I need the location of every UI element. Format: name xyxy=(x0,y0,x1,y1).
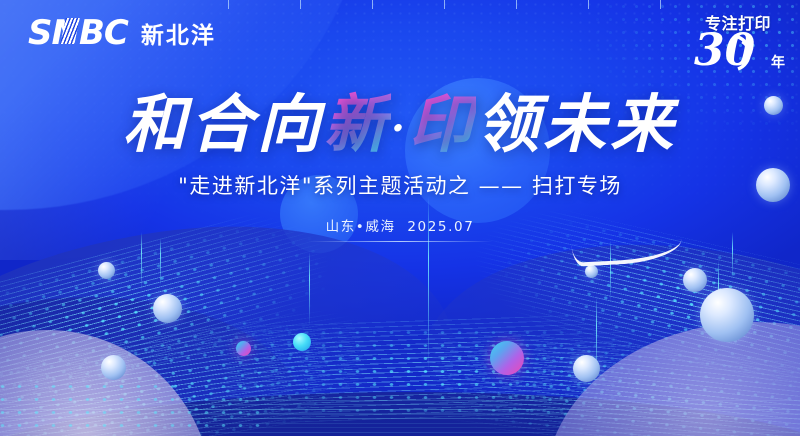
wave-mesh-dots-over-lavender xyxy=(0,380,260,436)
title-part-1: 和合向 xyxy=(123,87,324,161)
event-banner: SNBC 新北洋 专注打印 30 年 和合向新·印领未来 "走进新北洋"系列主题… xyxy=(0,0,800,436)
anniversary-number-row: 30 年 xyxy=(690,33,786,75)
title-part-gradient-yin: 印 xyxy=(409,87,476,161)
event-meta: 山东•威海 2025.07 xyxy=(0,215,800,235)
meta-divider xyxy=(308,241,493,242)
top-tick-4 xyxy=(444,0,445,9)
page-title: 和合向新·印领未来 xyxy=(0,92,800,156)
event-date: 2025.07 xyxy=(407,219,474,235)
title-part-gradient-xin: 新 xyxy=(324,87,391,161)
anniversary-arcs-icon xyxy=(730,33,770,78)
anniversary-badge: 专注打印 30 年 xyxy=(690,10,786,75)
snbc-wordmark-icon: SNBC xyxy=(28,16,128,50)
anniversary-unit: 年 xyxy=(771,52,785,72)
snbc-chinese-name: 新北洋 xyxy=(141,16,216,50)
snbc-logo[interactable]: SNBC 新北洋 xyxy=(28,16,216,50)
subtitle: "走进新北洋"系列主题活动之 —— 扫打专场 xyxy=(0,170,800,200)
event-location: 山东•威海 xyxy=(326,219,396,235)
title-part-2: 领未来 xyxy=(476,87,677,161)
title-block: 和合向新·印领未来 "走进新北洋"系列主题活动之 —— 扫打专场 山东•威海 2… xyxy=(0,92,800,242)
title-separator-dot: · xyxy=(391,105,409,152)
top-tick-3 xyxy=(372,0,373,9)
